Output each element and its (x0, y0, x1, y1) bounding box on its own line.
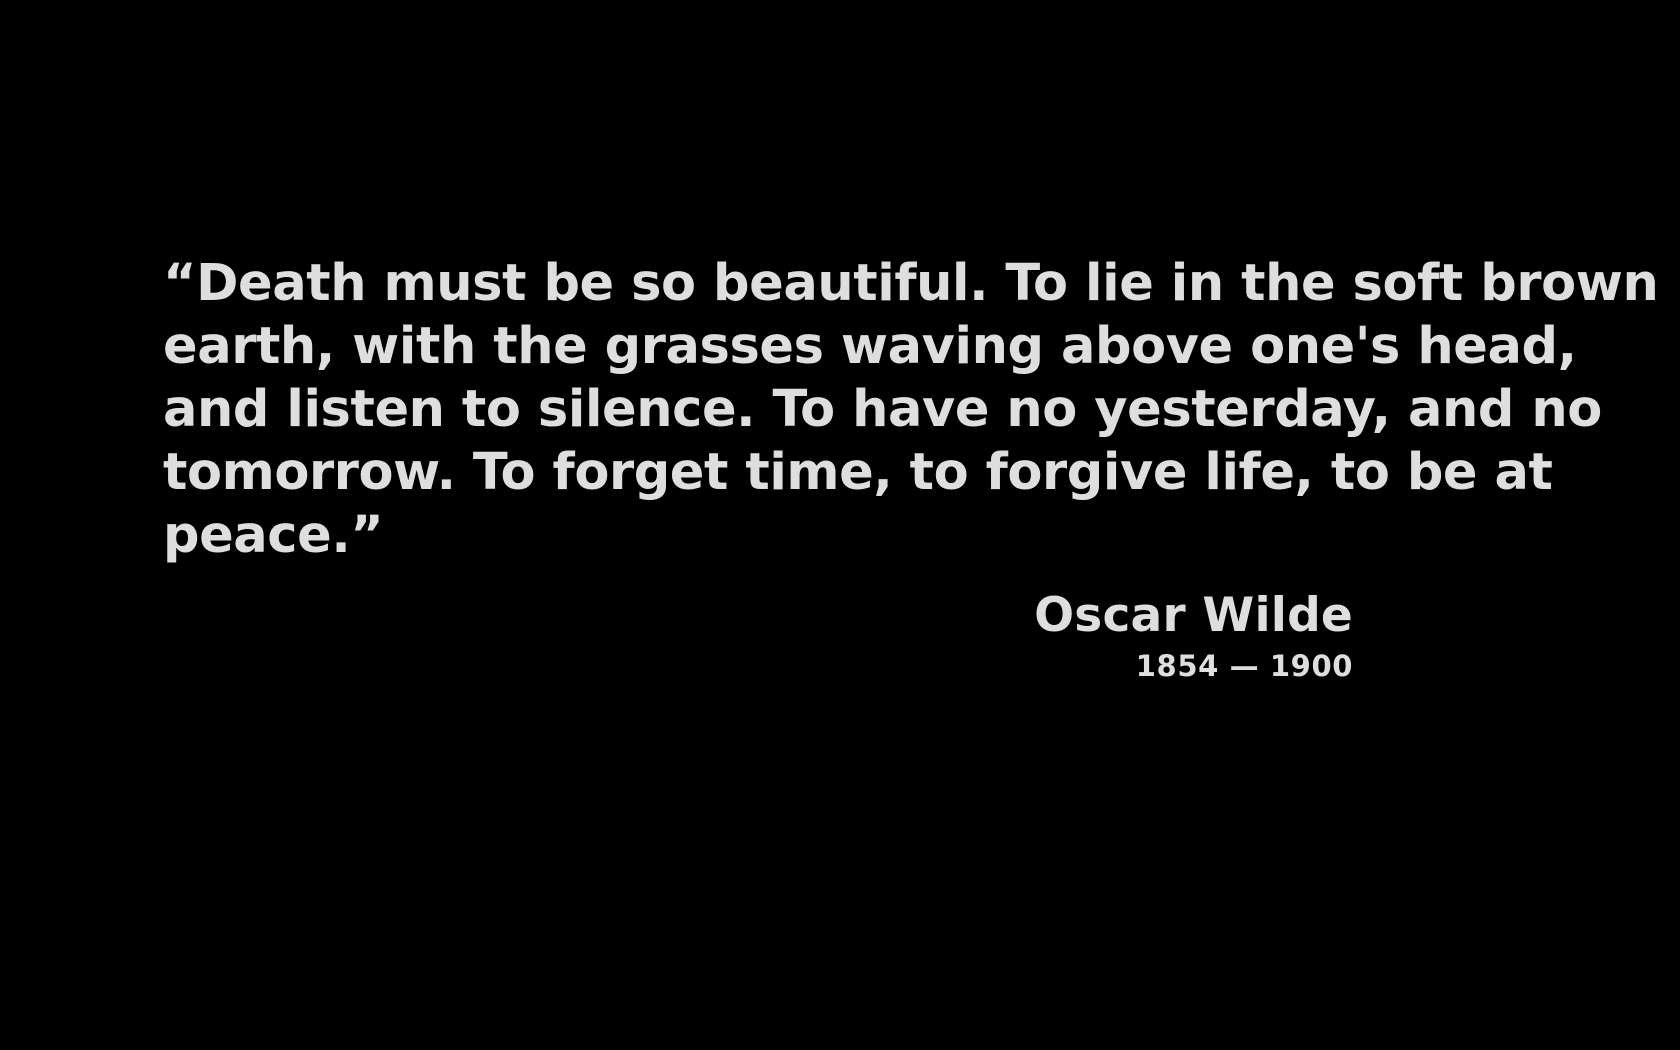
quote-line: earth, with the grasses waving above one… (163, 315, 1355, 378)
quote-card: “Death must be so beautiful. To lie in t… (0, 0, 1680, 1050)
attribution: Oscar Wilde 1854 — 1900 (163, 588, 1353, 686)
quote-line: peace.” (163, 504, 1355, 567)
author-dates: 1854 — 1900 (163, 646, 1353, 686)
quote-line: “Death must be so beautiful. To lie in t… (163, 252, 1355, 315)
author-name: Oscar Wilde (163, 588, 1353, 644)
quote-line: and listen to silence. To have no yester… (163, 378, 1355, 441)
quote-text-block: “Death must be so beautiful. To lie in t… (163, 252, 1355, 567)
quote-line: tomorrow. To forget time, to forgive lif… (163, 441, 1355, 504)
